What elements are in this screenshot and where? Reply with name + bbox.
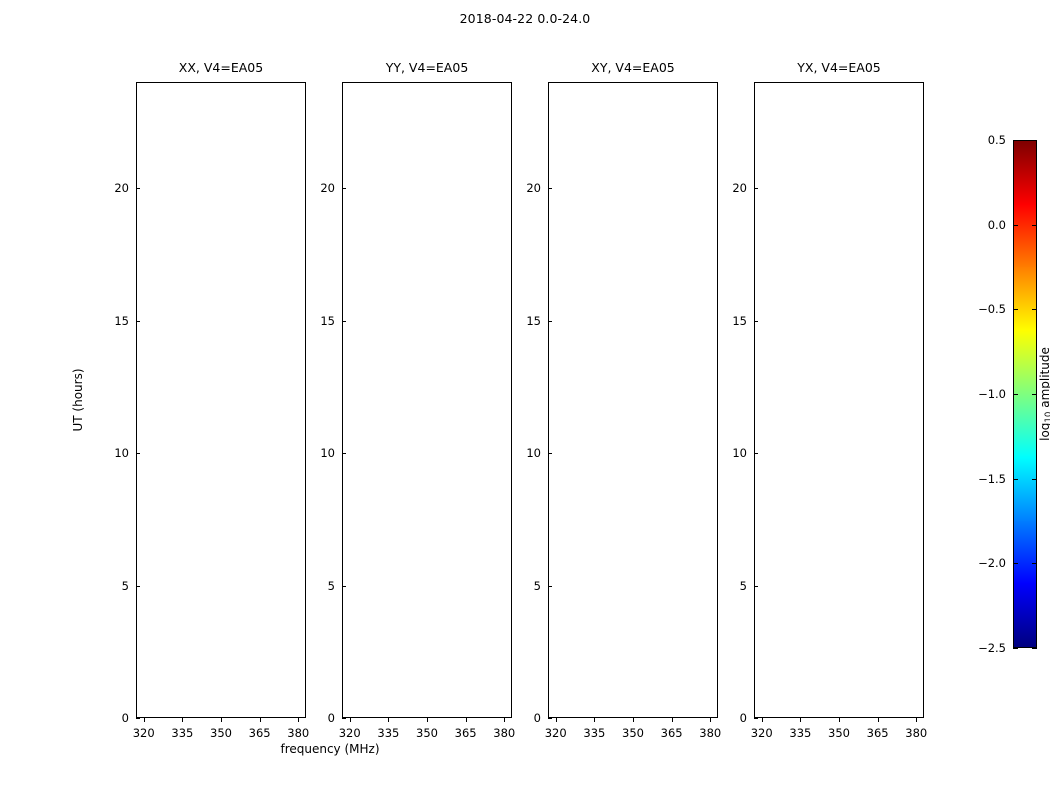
x-tick-labels-xy: 320335350365380	[548, 718, 718, 744]
subplot-xx[interactable]: XX, V4=EA0505101520320335350365380	[136, 82, 306, 718]
x-tick-mark	[221, 718, 222, 722]
y-tick-label: 5	[740, 579, 747, 593]
x-tick-mark	[144, 718, 145, 722]
colorbar-tick-mark	[1013, 479, 1018, 480]
colorbar-tick-mark	[1032, 309, 1037, 310]
y-tick-mark	[548, 188, 552, 189]
x-tick-label: 380	[493, 726, 515, 740]
subplot-yy[interactable]: YY, V4=EA0505101520320335350365380	[342, 82, 512, 718]
colorbar-tick-mark	[1032, 648, 1037, 649]
x-tick-mark	[466, 718, 467, 722]
y-tick-label: 15	[526, 314, 541, 328]
y-tick-mark	[136, 188, 140, 189]
y-tick-mark	[548, 453, 552, 454]
y-tick-label: 10	[732, 446, 747, 460]
subplot-title-yx: YX, V4=EA05	[714, 60, 964, 75]
y-tick-label: 10	[526, 446, 541, 460]
colorbar-tick-mark	[1013, 648, 1018, 649]
x-tick-label: 365	[455, 726, 477, 740]
x-tick-mark	[388, 718, 389, 722]
subplot-frame-xy	[548, 82, 718, 718]
y-tick-label: 5	[534, 579, 541, 593]
subplot-frame-xx	[136, 82, 306, 718]
y-tick-marks-xy	[548, 82, 553, 718]
x-tick-label: 320	[545, 726, 567, 740]
y-tick-labels-yy: 05101520	[308, 82, 342, 718]
colorbar-label-base: log	[1038, 423, 1050, 441]
y-tick-mark	[136, 586, 140, 587]
y-tick-label: 15	[320, 314, 335, 328]
colorbar-label: log10 amplitude	[1038, 347, 1050, 441]
colorbar-label-subscript: 10	[1044, 412, 1050, 423]
y-tick-label: 0	[328, 711, 335, 725]
y-tick-mark	[754, 188, 758, 189]
x-tick-labels-xx: 320335350365380	[136, 718, 306, 744]
x-tick-mark	[556, 718, 557, 722]
x-tick-label: 335	[377, 726, 399, 740]
x-tick-mark	[427, 718, 428, 722]
y-tick-mark	[754, 453, 758, 454]
y-tick-mark	[548, 321, 552, 322]
x-tick-mark	[916, 718, 917, 722]
x-tick-mark	[504, 718, 505, 722]
y-tick-mark	[342, 453, 346, 454]
x-tick-mark	[260, 718, 261, 722]
x-tick-mark	[710, 718, 711, 722]
colorbar-tick-label: −2.0	[978, 556, 1006, 570]
subplot-frame-yx	[754, 82, 924, 718]
x-tick-mark	[672, 718, 673, 722]
x-tick-label: 380	[287, 726, 309, 740]
x-tick-mark	[298, 718, 299, 722]
x-tick-label: 335	[789, 726, 811, 740]
x-tick-labels-yx: 320335350365380	[754, 718, 924, 744]
y-tick-label: 20	[320, 181, 335, 195]
figure-suptitle: 2018-04-22 0.0-24.0	[0, 11, 1050, 26]
colorbar-tick-mark	[1013, 563, 1018, 564]
y-tick-label: 5	[122, 579, 129, 593]
x-tick-mark	[800, 718, 801, 722]
colorbar-tick-label: −1.0	[978, 387, 1006, 401]
x-tick-mark	[182, 718, 183, 722]
y-tick-label: 15	[114, 314, 129, 328]
x-tick-mark	[594, 718, 595, 722]
subplot-frame-yy	[342, 82, 512, 718]
x-tick-label: 365	[249, 726, 271, 740]
y-tick-label: 10	[320, 446, 335, 460]
x-tick-label: 350	[828, 726, 850, 740]
x-tick-label: 380	[905, 726, 927, 740]
x-tick-label: 320	[339, 726, 361, 740]
x-tick-label: 320	[751, 726, 773, 740]
y-tick-mark	[136, 453, 140, 454]
colorbar-tick-label: −1.5	[978, 472, 1006, 486]
y-tick-labels-yx: 05101520	[720, 82, 754, 718]
colorbar-label-tail: amplitude	[1038, 347, 1050, 411]
colorbar-tick-mark	[1032, 394, 1037, 395]
colorbar-tick-label: −2.5	[978, 641, 1006, 655]
x-axis-label: frequency (MHz)	[0, 742, 660, 756]
x-tick-labels-yy: 320335350365380	[342, 718, 512, 744]
y-tick-label: 15	[732, 314, 747, 328]
colorbar-tick-mark	[1013, 309, 1018, 310]
x-tick-label: 380	[699, 726, 721, 740]
y-tick-marks-yx	[754, 82, 759, 718]
x-tick-label: 350	[416, 726, 438, 740]
x-tick-label: 335	[171, 726, 193, 740]
colorbar-tick-mark	[1032, 225, 1037, 226]
x-tick-label: 365	[867, 726, 889, 740]
y-tick-marks-xx	[136, 82, 141, 718]
y-tick-label: 0	[534, 711, 541, 725]
subplot-xy[interactable]: XY, V4=EA0505101520320335350365380	[548, 82, 718, 718]
colorbar-tick-mark	[1032, 140, 1037, 141]
x-tick-mark	[839, 718, 840, 722]
y-tick-labels-xx: 05101520	[102, 82, 136, 718]
x-tick-label: 350	[210, 726, 232, 740]
y-tick-mark	[342, 188, 346, 189]
x-tick-mark	[350, 718, 351, 722]
x-tick-label: 335	[583, 726, 605, 740]
y-tick-label: 20	[732, 181, 747, 195]
y-tick-labels-xy: 05101520	[514, 82, 548, 718]
y-tick-mark	[548, 586, 552, 587]
figure-canvas: 2018-04-22 0.0-24.0 UT (hours) frequency…	[0, 0, 1050, 800]
y-tick-label: 10	[114, 446, 129, 460]
subplot-yx[interactable]: YX, V4=EA0505101520320335350365380	[754, 82, 924, 718]
colorbar-tick-mark	[1032, 479, 1037, 480]
y-tick-marks-yy	[342, 82, 347, 718]
colorbar[interactable]: 0.50.0−0.5−1.0−1.5−2.0−2.5	[1013, 140, 1037, 648]
colorbar-tick-label: 0.0	[988, 218, 1006, 232]
y-tick-label: 20	[114, 181, 129, 195]
y-tick-label: 0	[740, 711, 747, 725]
y-tick-mark	[136, 321, 140, 322]
y-tick-label: 5	[328, 579, 335, 593]
y-tick-mark	[342, 321, 346, 322]
colorbar-tick-label: −0.5	[978, 302, 1006, 316]
y-axis-label: UT (hours)	[71, 368, 85, 431]
colorbar-tick-mark	[1013, 394, 1018, 395]
x-tick-mark	[633, 718, 634, 722]
x-tick-label: 365	[661, 726, 683, 740]
y-tick-mark	[754, 586, 758, 587]
y-tick-mark	[342, 586, 346, 587]
x-tick-mark	[878, 718, 879, 722]
colorbar-tick-label: 0.5	[988, 133, 1006, 147]
colorbar-tick-mark	[1032, 563, 1037, 564]
colorbar-tick-mark	[1013, 140, 1018, 141]
colorbar-tick-mark	[1013, 225, 1018, 226]
y-tick-mark	[754, 321, 758, 322]
y-tick-label: 20	[526, 181, 541, 195]
x-tick-label: 320	[133, 726, 155, 740]
y-tick-label: 0	[122, 711, 129, 725]
x-tick-label: 350	[622, 726, 644, 740]
x-tick-mark	[762, 718, 763, 722]
